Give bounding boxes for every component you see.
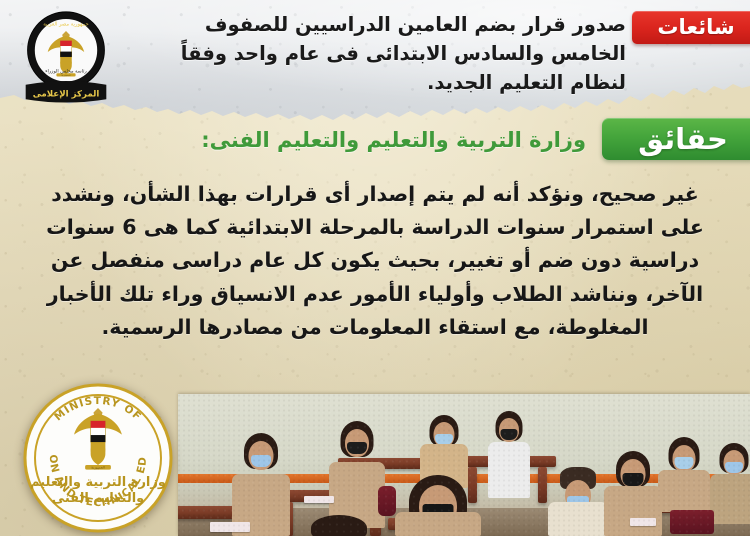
rumor-headline: صدور قرار بضم العامين الدراسيين للصفوف ا… [180, 11, 626, 98]
source-heading: وزارة التربية والتعليم والتعليم الفنى: [166, 128, 586, 153]
rumor-badge: شائعات [632, 11, 750, 44]
classroom-photo [178, 394, 750, 536]
ministry-of-education-seal-icon: MINISTRY OF EDUCATION AND TECHNICAL EDUC… [22, 382, 174, 534]
egypt-cabinet-media-center-logo-icon: جمهورية مصر العربية الجمهورية رئاسة مجلس… [18, 6, 114, 106]
rumor-badge-label: شائعات [657, 17, 734, 38]
facts-badge: حقائق [602, 118, 750, 160]
facts-badge-label: حقائق [638, 125, 728, 154]
svg-text:الجمهورية: الجمهورية [91, 466, 105, 470]
infographic-poster: جمهورية مصر العربية الجمهورية رئاسة مجلس… [0, 0, 750, 536]
svg-text:جمهورية مصر العربية: جمهورية مصر العربية [43, 21, 88, 27]
svg-text:رئاسة مجلس الوزراء: رئاسة مجلس الوزراء [45, 68, 87, 74]
svg-text:الجمهورية: الجمهورية [61, 74, 71, 77]
svg-text:المركز الإعلامى: المركز الإعلامى [33, 89, 100, 99]
facts-body-text: غير صحيح، ونؤكد أنه لم يتم إصدار أى قرار… [36, 178, 714, 344]
svg-text:وزارة التربية والتعليم: وزارة التربية والتعليم [30, 475, 166, 490]
svg-text:والتعليم الفنى: والتعليم الفنى [52, 491, 145, 506]
